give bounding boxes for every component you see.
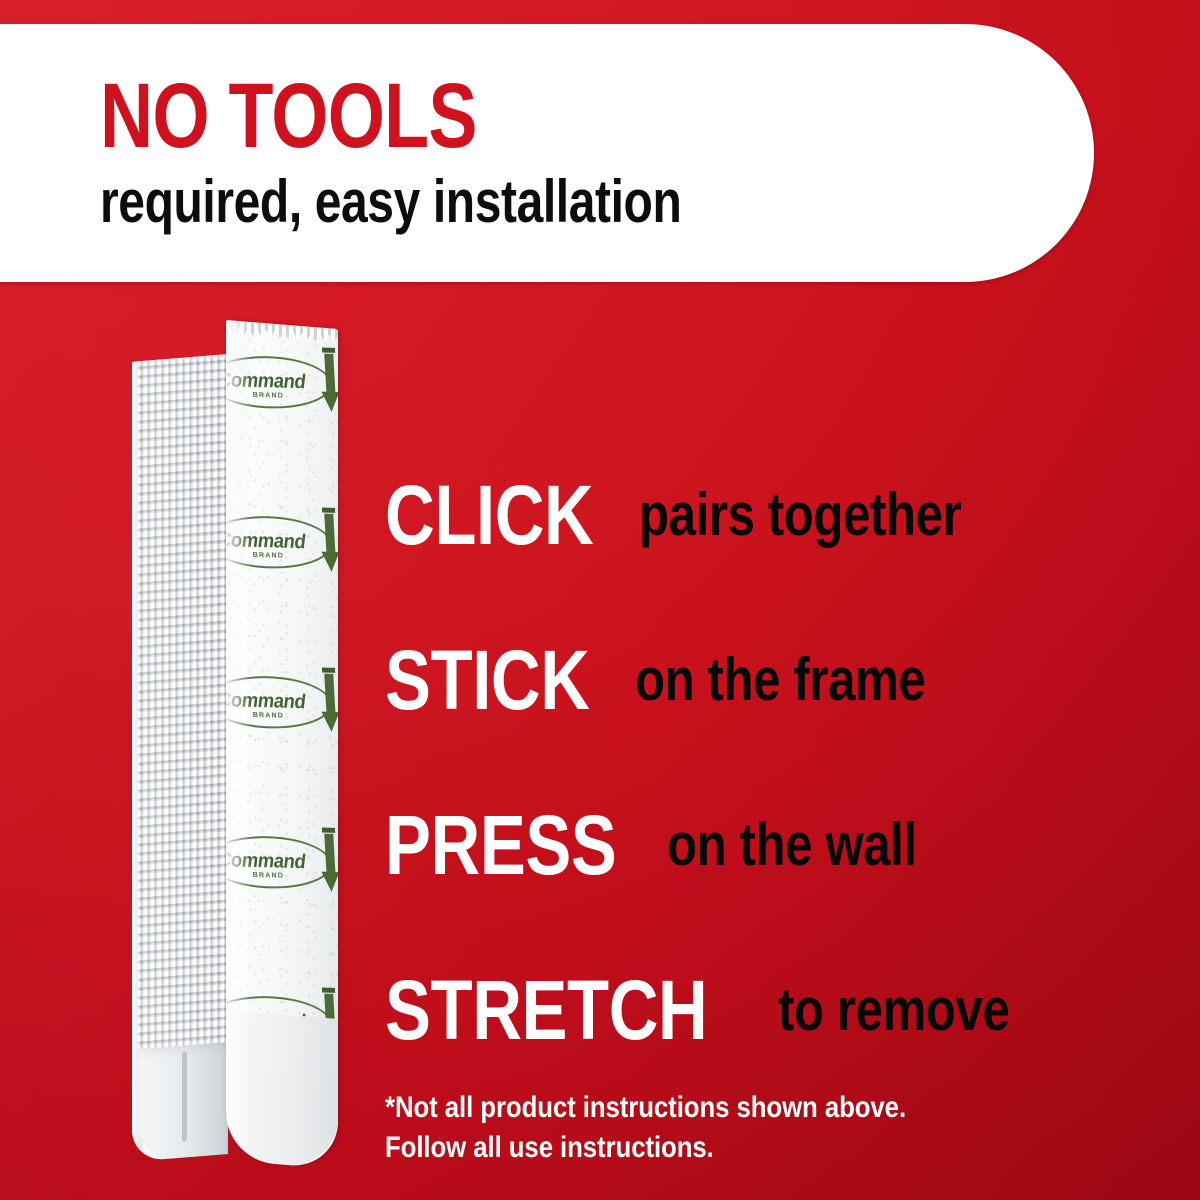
page-title: NO TOOLS — [100, 74, 804, 159]
logo-brand-label: BRAND — [253, 712, 285, 720]
step-action-label: STICK — [385, 638, 590, 722]
step-detail-label: on the frame — [635, 650, 925, 710]
fastener-bristles-texture — [138, 354, 228, 1053]
instruction-step: STRETCH to remove — [385, 927, 1145, 1092]
down-arrow-icon — [318, 351, 338, 414]
strip-fastener-face — [132, 354, 228, 1162]
strip-liner-face: Command BRAND Command BRAND Co — [226, 320, 338, 1169]
page-subtitle: required, easy installation — [100, 172, 804, 232]
instruction-step: STICK on the frame — [385, 597, 1145, 762]
footnote-line-2: Follow all use instructions. — [385, 1128, 906, 1168]
step-detail-label: pairs together — [639, 485, 961, 545]
step-action-label: STRETCH — [385, 968, 707, 1052]
step-detail-label: to remove — [778, 980, 1009, 1040]
step-action-label: CLICK — [385, 473, 593, 557]
logo-brand-label: BRAND — [253, 552, 285, 560]
strip-edge-gloss — [226, 320, 252, 1162]
header-banner: NO TOOLS required, easy installation — [0, 24, 1094, 282]
down-arrow-icon — [318, 671, 338, 734]
disclaimer-footnote: *Not all product instructions shown abov… — [385, 1088, 906, 1168]
logo-brand-label: BRAND — [253, 872, 285, 880]
down-arrow-icon — [318, 831, 338, 894]
footnote-line-1: *Not all product instructions shown abov… — [385, 1088, 906, 1128]
down-arrow-icon — [318, 511, 338, 574]
instruction-step: CLICK pairs together — [385, 432, 1145, 597]
instruction-steps-list: CLICK pairs together STICK on the frame … — [385, 432, 1145, 1092]
logo-brand-label: BRAND — [253, 392, 285, 400]
step-action-label: PRESS — [385, 803, 616, 887]
product-image: Command BRAND Command BRAND Co — [118, 312, 338, 1182]
instruction-step: PRESS on the wall — [385, 762, 1145, 927]
step-detail-label: on the wall — [667, 815, 917, 875]
strip-pull-tab-back — [136, 1042, 228, 1161]
advertisement-canvas: NO TOOLS required, easy installation Com… — [0, 0, 1200, 1200]
header-banner-content: NO TOOLS required, easy installation — [100, 24, 980, 282]
